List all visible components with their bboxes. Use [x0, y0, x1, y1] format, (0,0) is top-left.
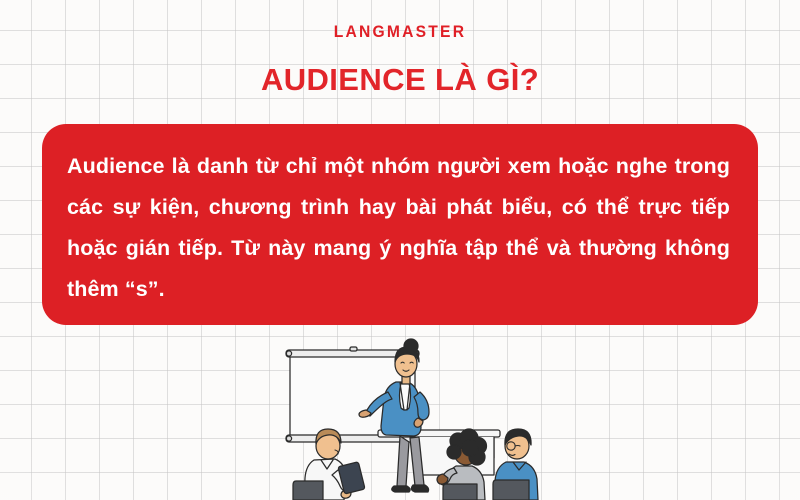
page-background: LANGMASTER AUDIENCE LÀ GÌ? Audience là d… — [0, 0, 800, 500]
definition-card: Audience là danh từ chỉ một nhóm người x… — [42, 124, 758, 325]
langmaster-logo: LANGMASTER — [32, 22, 768, 42]
presentation-meeting-illustration — [268, 338, 568, 500]
page-title: AUDIENCE LÀ GÌ? — [0, 62, 800, 98]
definition-text: Audience là danh từ chỉ một nhóm người x… — [67, 146, 730, 310]
seated-man-with-glasses-figure — [493, 429, 538, 500]
